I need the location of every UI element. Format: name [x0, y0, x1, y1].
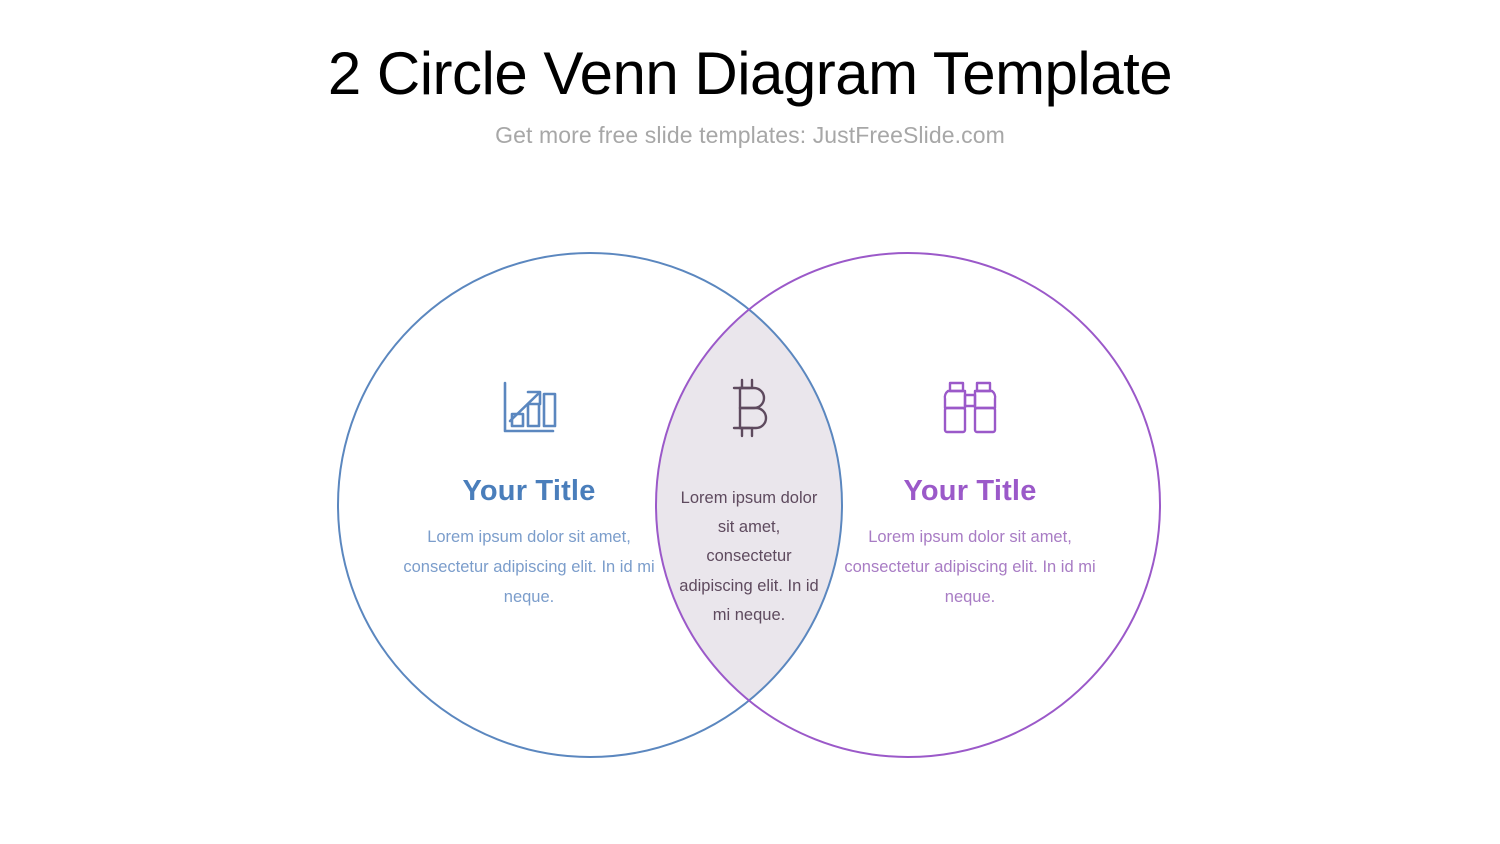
venn-diagram: Your Title Lorem ipsum dolor sit amet, c… — [0, 0, 1500, 844]
right-circle-title: Your Title — [840, 475, 1100, 508]
left-circle-body: Lorem ipsum dolor sit amet, consectetur … — [399, 522, 659, 612]
right-circle-content[interactable]: Your Title Lorem ipsum dolor sit amet, c… — [840, 378, 1100, 612]
overlap-body: Lorem ipsum dolor sit amet, consectetur … — [673, 484, 825, 630]
bar-chart-growth-icon — [399, 378, 659, 438]
binoculars-icon — [840, 378, 1100, 438]
left-circle-title: Your Title — [399, 475, 659, 508]
right-circle-body: Lorem ipsum dolor sit amet, consectetur … — [840, 522, 1100, 612]
left-circle-content[interactable]: Your Title Lorem ipsum dolor sit amet, c… — [399, 378, 659, 612]
overlap-content[interactable]: Lorem ipsum dolor sit amet, consectetur … — [673, 378, 825, 630]
slide-canvas: 2 Circle Venn Diagram Template Get more … — [0, 0, 1500, 844]
bitcoin-icon — [673, 378, 825, 438]
